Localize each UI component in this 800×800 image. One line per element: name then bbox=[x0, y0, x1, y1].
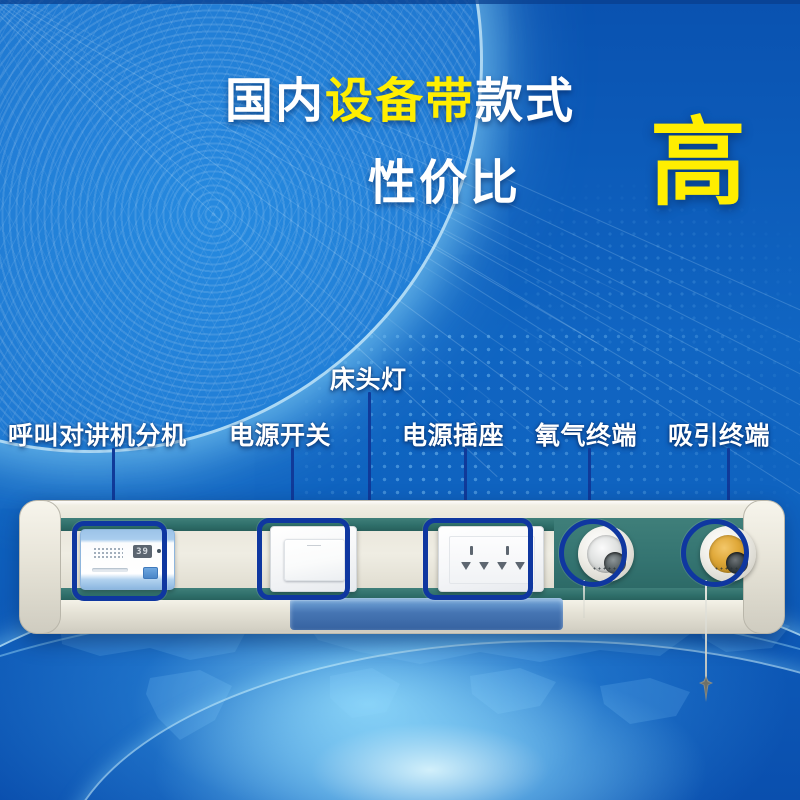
bed-lamp-diffuser[interactable] bbox=[290, 598, 563, 630]
hanging-plug-icon bbox=[695, 676, 717, 702]
callout-label-oxygen-terminal: 氧气终端 bbox=[535, 416, 637, 452]
highlight-power-switch bbox=[257, 518, 350, 600]
promotional-banner: 国内设备带款式 性价比 高 呼叫对讲机分机 电源开关 床头灯 电源插座 氧气终端… bbox=[0, 0, 800, 800]
suction-hose-cord bbox=[705, 580, 707, 680]
highlight-suction-terminal bbox=[681, 519, 749, 587]
callout-label-bed-lamp: 床头灯 bbox=[330, 360, 407, 396]
highlight-power-outlet bbox=[423, 518, 533, 600]
callout-label-suction-terminal: 吸引终端 bbox=[668, 416, 770, 452]
callout-label-intercom-extension: 呼叫对讲机分机 bbox=[8, 416, 187, 452]
highlight-intercom-extension bbox=[72, 521, 167, 601]
highlight-oxygen-terminal bbox=[559, 519, 627, 587]
callout-group: 呼叫对讲机分机 电源开关 床头灯 电源插座 氧气终端 吸引终端 bbox=[0, 0, 800, 800]
callout-label-power-outlet: 电源插座 bbox=[402, 416, 504, 452]
panel-end-cap-left bbox=[19, 500, 61, 634]
callout-label-power-switch: 电源开关 bbox=[229, 416, 331, 452]
